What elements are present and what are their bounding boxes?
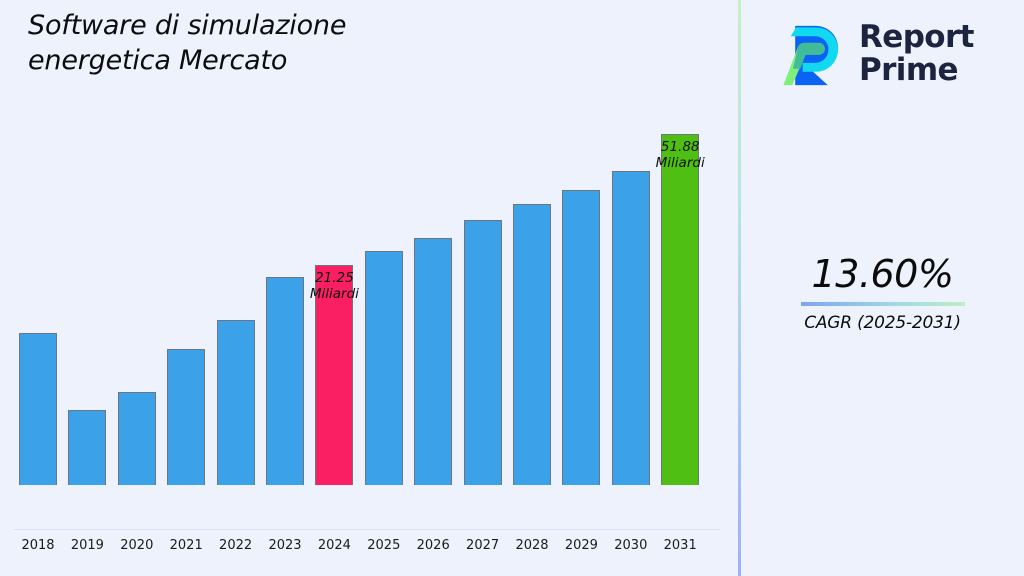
bar-2021 <box>167 349 205 485</box>
bar-2031 <box>661 134 699 485</box>
brand-logo-line1: Report <box>859 19 974 55</box>
bar-2027 <box>464 220 502 485</box>
bar-chart-plot-area: 21.25 Miliardi51.88 Miliardi 20182019202… <box>0 0 738 531</box>
bar-2028 <box>513 204 551 485</box>
x-axis-baseline <box>14 529 720 530</box>
cagr-divider-rule <box>801 302 965 306</box>
bar-2030 <box>612 171 650 485</box>
bar-2020 <box>118 392 156 485</box>
brand-logo-line2: Prime <box>859 52 958 88</box>
bar-value-label-2024: 21.25 Miliardi <box>274 270 394 302</box>
x-tick-2031: 2031 <box>650 538 710 553</box>
brand-logo-text: Report Prime <box>859 21 974 87</box>
side-panel: Report Prime 13.60% CAGR (2025-2031) <box>741 0 1024 576</box>
report-prime-logo-icon <box>773 17 847 91</box>
bar-2019 <box>68 410 106 485</box>
bar-2026 <box>414 238 452 485</box>
cagr-caption: CAGR (2025-2031) <box>741 313 1024 333</box>
bar-2018 <box>19 333 57 485</box>
brand-logo: Report Prime <box>773 10 1005 98</box>
bar-2023 <box>266 277 304 485</box>
cagr-block: 13.60% CAGR (2025-2031) <box>741 252 1024 333</box>
bar-value-label-2031: 51.88 Miliardi <box>620 139 740 171</box>
chart-screenshot: Software di simulazione energetica Merca… <box>0 0 1024 576</box>
cagr-value: 13.60% <box>741 252 1024 296</box>
bar-2022 <box>217 320 255 485</box>
chart-panel: Software di simulazione energetica Merca… <box>0 0 738 576</box>
bar-2029 <box>562 190 600 485</box>
